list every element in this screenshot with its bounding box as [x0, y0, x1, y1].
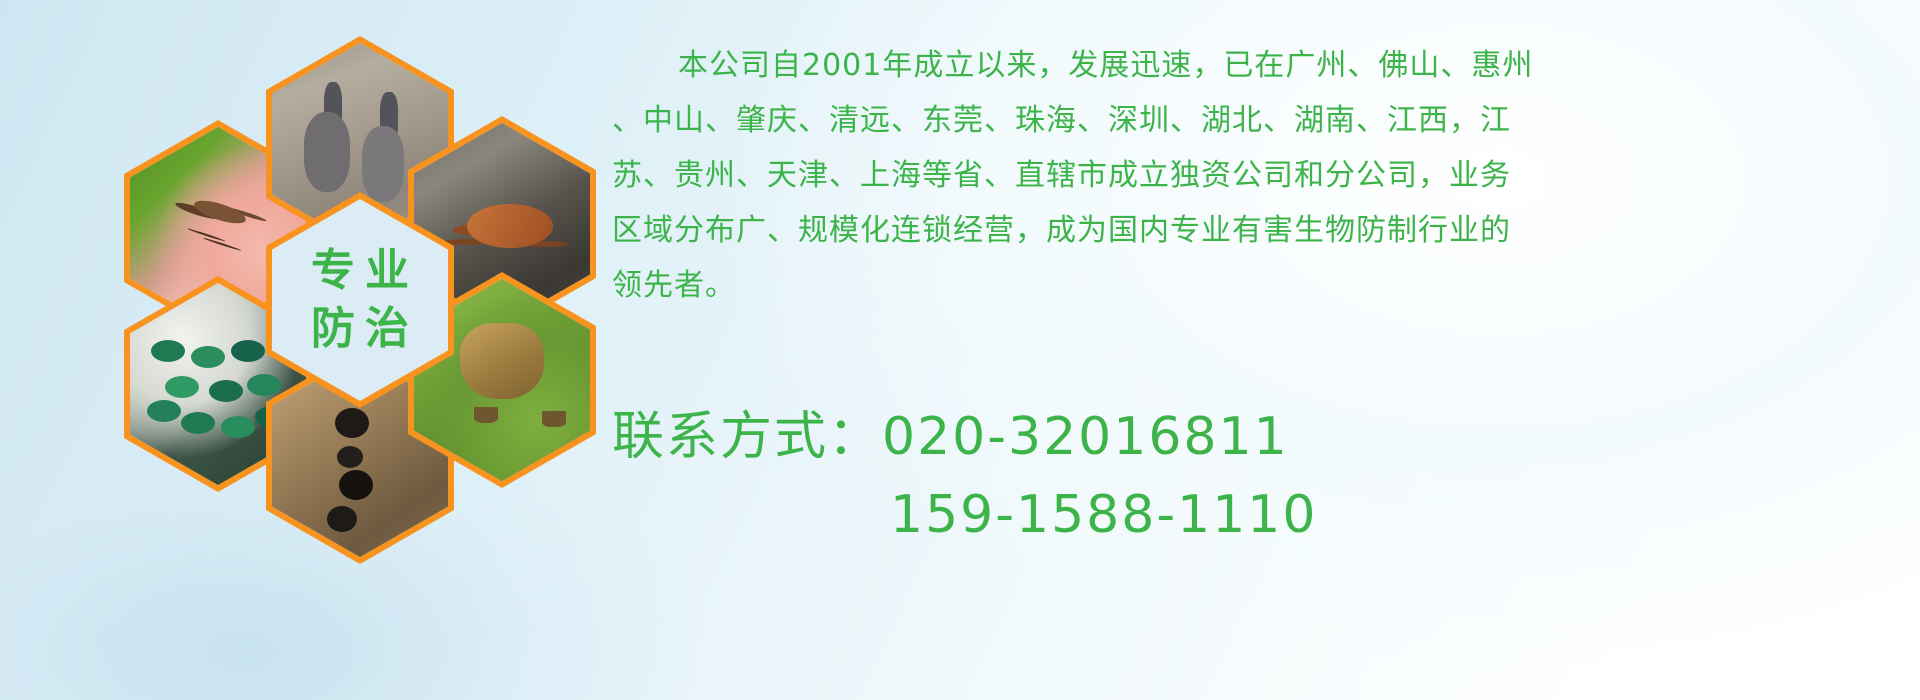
slogan-line-2: 防治 — [301, 303, 419, 355]
pest-control-banner: 专业 防治 本公司自2001年成立以来，发展迅速，已在广州、佛山、惠州 、中山、… — [0, 0, 1920, 700]
intro-line-2: 、中山、肇庆、清远、东莞、珠海、深圳、湖北、湖南、江西，江 — [612, 93, 1872, 148]
intro-line-4: 区域分布广、规模化连锁经营，成为国内专业有害生物防制行业的 — [612, 203, 1872, 258]
honeycomb-logo: 专业 防治 — [96, 0, 616, 580]
contact-phone-landline[interactable]: 联系方式：020-32016811 — [612, 398, 1317, 476]
intro-line-5: 领先者。 — [612, 258, 1872, 313]
contact-phone-mobile[interactable]: 159-1588-1110 — [612, 476, 1317, 554]
intro-line-3: 苏、贵州、天津、上海等省、直辖市成立独资公司和分公司，业务 — [612, 148, 1872, 203]
intro-line-1-text: 本公司自2001年成立以来，发展迅速，已在广州、佛山、惠州 — [612, 48, 1533, 83]
intro-paragraph: 本公司自2001年成立以来，发展迅速，已在广州、佛山、惠州 、中山、肇庆、清远、… — [612, 38, 1872, 313]
slogan-line-1: 专业 — [301, 245, 419, 297]
contact-block: 联系方式：020-32016811 159-1588-1110 — [612, 398, 1317, 554]
intro-line-1: 本公司自2001年成立以来，发展迅速，已在广州、佛山、惠州 — [612, 38, 1872, 93]
hex-slogan-inner: 专业 防治 — [272, 199, 448, 401]
